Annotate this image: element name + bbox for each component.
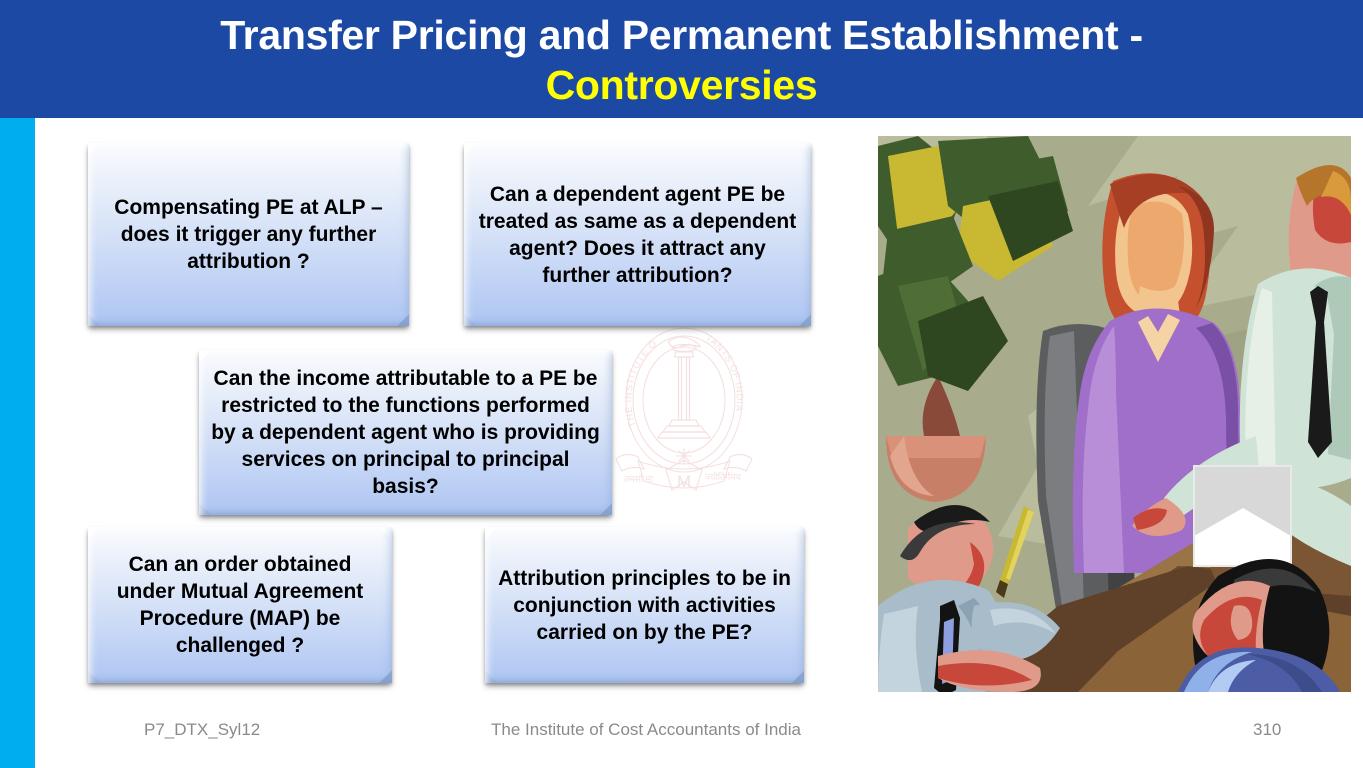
page-title-line-2: Controversies [546,60,818,110]
watermark-ribbon-left: तमसो मा [624,473,654,484]
footer-institute-name: The Institute of Cost Accountants of Ind… [491,720,801,740]
footer-course-code: P7_DTX_Syl12 [144,720,260,740]
question-box-map-order[interactable]: Can an order obtained under Mutual Agree… [88,527,392,683]
svg-text:TANTS OF INDIA: TANTS OF INDIA [703,333,745,412]
question-box-text: Compensating PE at ALP – does it trigger… [88,194,409,275]
business-meeting-clipart [878,136,1351,692]
question-box-text: Attribution principles to be in conjunct… [485,565,804,646]
question-box-compensating-pe[interactable]: Compensating PE at ALP – does it trigger… [88,143,409,326]
question-box-text: Can a dependent agent PE be treated as s… [464,181,811,289]
page-title-line-1: Transfer Pricing and Permanent Establish… [220,10,1143,60]
slide-header: Transfer Pricing and Permanent Establish… [0,0,1363,118]
left-accent-bar [0,118,35,768]
slide-footer: P7_DTX_Syl12 The Institute of Cost Accou… [0,716,1363,756]
svg-text:THE INSTITUTE O: THE INSTITUTE O [623,338,659,428]
watermark-ribbon-right: ज्योतिर्गमय [705,471,742,482]
question-box-text: Can the income attributable to a PE be r… [199,365,612,500]
icai-seal-watermark-icon: THE INSTITUTE O TANTS OF INDIA [604,322,764,508]
footer-page-number: 310 [1253,720,1281,740]
watermark-ribbon-center: M [677,472,691,491]
question-box-text: Can an order obtained under Mutual Agree… [88,551,392,659]
question-box-income-attributable[interactable]: Can the income attributable to a PE be r… [199,350,612,515]
question-box-dependent-agent[interactable]: Can a dependent agent PE be treated as s… [464,143,811,326]
question-box-attribution-principles[interactable]: Attribution principles to be in conjunct… [485,527,804,683]
